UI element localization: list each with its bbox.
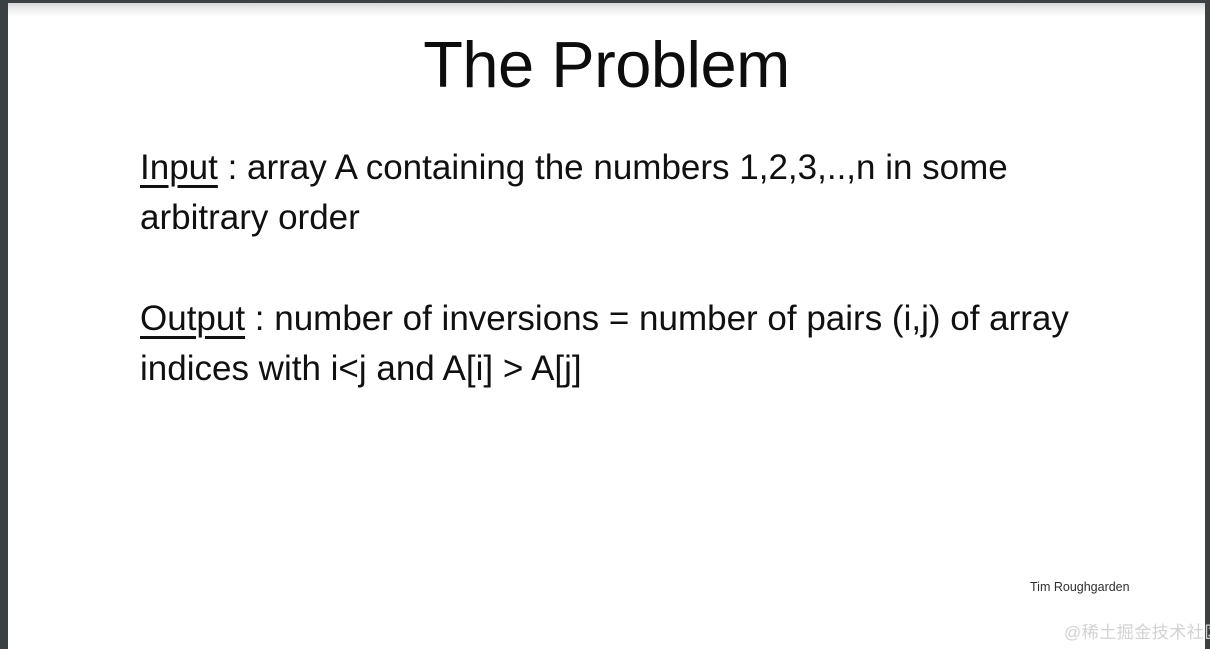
author-credit: Tim Roughgarden bbox=[1030, 579, 1130, 595]
slide-title: The Problem bbox=[8, 28, 1205, 102]
output-description: : number of inversions = number of pairs… bbox=[140, 299, 1079, 388]
output-paragraph: Output : number of inversions = number o… bbox=[140, 294, 1080, 394]
presentation-slide: The Problem Input : array A containing t… bbox=[0, 0, 1210, 649]
input-label: Input bbox=[140, 148, 218, 187]
slide-canvas: The Problem Input : array A containing t… bbox=[8, 3, 1205, 649]
input-description: : array A containing the numbers 1,2,3,.… bbox=[140, 148, 1018, 237]
window-left-edge bbox=[0, 0, 8, 649]
input-paragraph: Input : array A containing the numbers 1… bbox=[140, 143, 1080, 243]
output-label: Output bbox=[140, 299, 245, 338]
watermark-label: @稀土掘金技术社区 bbox=[1064, 622, 1210, 644]
window-right-edge bbox=[1205, 0, 1210, 649]
